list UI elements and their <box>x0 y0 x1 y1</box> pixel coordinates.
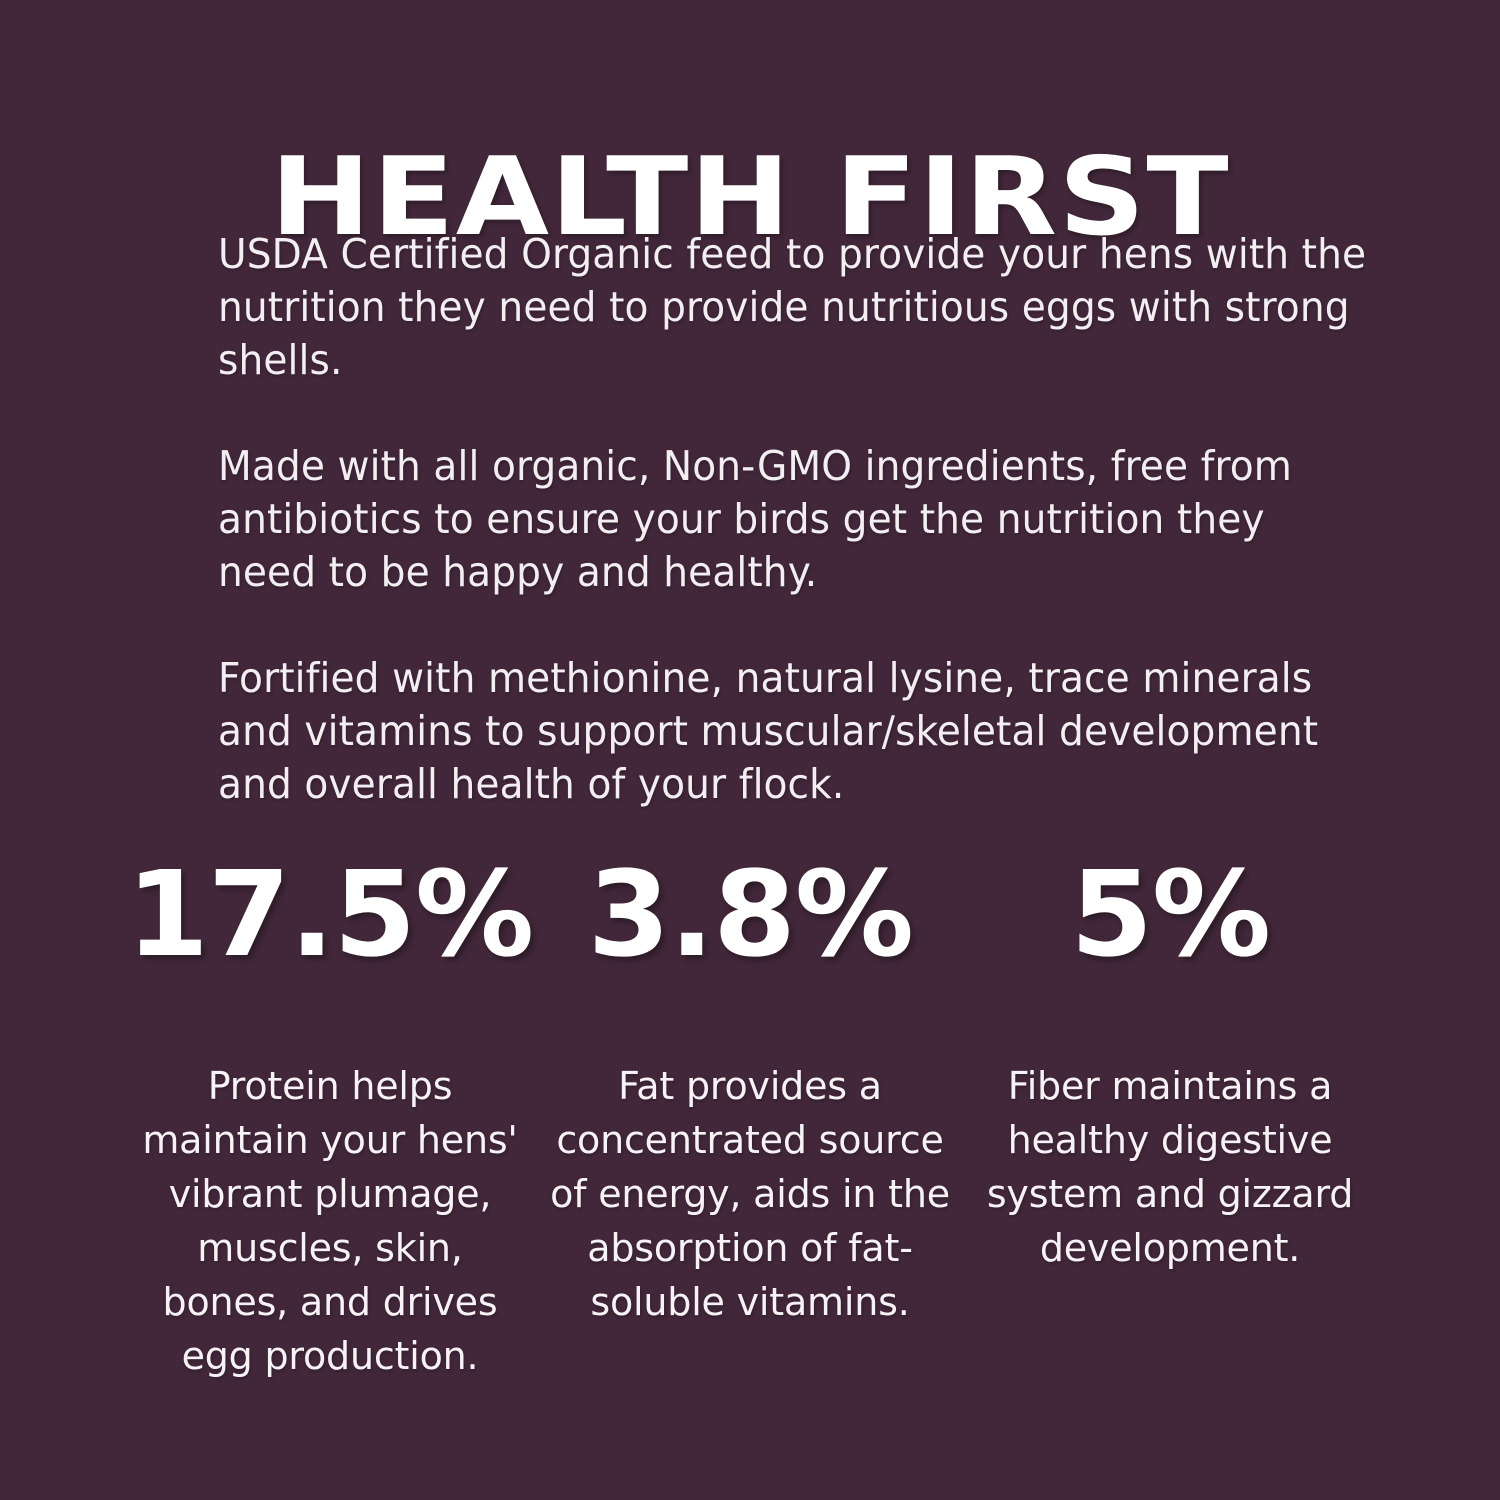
stat-description-fiber: Fiber maintains a healthy digestive syst… <box>970 1059 1370 1275</box>
stat-value-protein: 17.5% <box>127 855 534 973</box>
intro-paragraph-3: Fortified with methionine, natural lysin… <box>218 652 1373 811</box>
stat-value-fiber: 5% <box>1070 855 1270 973</box>
stat-column-fat: 3.8% Fat provides a concentrated source … <box>540 855 960 1329</box>
stat-column-fiber: 5% Fiber maintains a healthy digestive s… <box>960 855 1380 1275</box>
stat-description-protein: Protein helps maintain your hens' vibran… <box>130 1059 530 1383</box>
stat-description-fat: Fat provides a concentrated source of en… <box>550 1059 950 1329</box>
stat-column-protein: 17.5% Protein helps maintain your hens' … <box>120 855 540 1383</box>
intro-paragraph-2: Made with all organic, Non-GMO ingredien… <box>218 440 1373 599</box>
stat-value-fat: 3.8% <box>587 855 912 973</box>
nutrition-stats-row: 17.5% Protein helps maintain your hens' … <box>120 855 1380 1383</box>
intro-paragraph-1: USDA Certified Organic feed to provide y… <box>218 228 1373 387</box>
health-first-poster: HEALTH FIRST USDA Certified Organic feed… <box>0 0 1500 1500</box>
intro-paragraphs: USDA Certified Organic feed to provide y… <box>218 228 1308 811</box>
